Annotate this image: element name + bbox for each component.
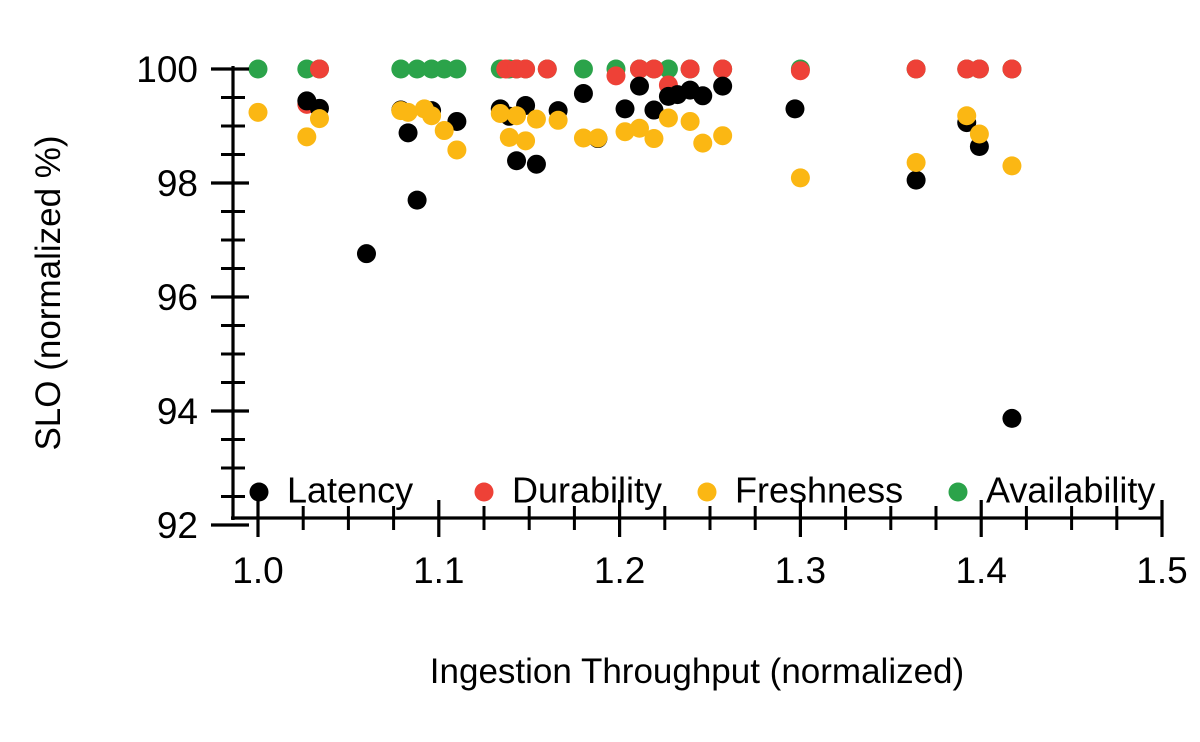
y-tick-label: 96 <box>157 277 198 318</box>
data-point <box>399 123 418 142</box>
data-point <box>516 131 535 150</box>
data-point <box>1002 60 1021 79</box>
x-tick-label: 1.5 <box>1136 550 1187 591</box>
data-point <box>907 60 926 79</box>
data-point <box>681 112 700 131</box>
legend-label-latency[interactable]: Latency <box>287 470 413 511</box>
data-point <box>574 60 593 79</box>
data-point <box>408 191 427 210</box>
legend-swatch-latency[interactable] <box>250 483 269 502</box>
y-tick-label: 92 <box>157 505 198 546</box>
data-point <box>435 121 454 140</box>
data-point <box>297 127 316 146</box>
data-point <box>659 109 678 128</box>
data-point <box>422 106 441 125</box>
y-axis-title: SLO (normalized %) <box>29 135 68 450</box>
data-point <box>491 104 510 123</box>
legend-swatch-freshness[interactable] <box>698 483 717 502</box>
y-tick-label: 100 <box>136 49 198 90</box>
x-tick-label: 1.3 <box>775 550 826 591</box>
data-point <box>644 60 663 79</box>
data-markers-layer <box>249 60 1022 428</box>
data-point <box>970 124 989 143</box>
data-point <box>630 77 649 96</box>
data-point <box>1002 156 1021 175</box>
series-latency <box>297 77 1021 428</box>
data-point <box>785 99 804 118</box>
data-point <box>357 244 376 263</box>
data-point <box>907 153 926 172</box>
data-point <box>249 60 268 79</box>
data-point <box>500 128 519 147</box>
y-tick-label: 98 <box>157 163 198 204</box>
data-point <box>310 109 329 128</box>
data-point <box>527 110 546 129</box>
data-point <box>447 140 466 159</box>
data-point <box>249 103 268 122</box>
x-tick-label: 1.4 <box>955 550 1006 591</box>
data-point <box>791 168 810 187</box>
legend-swatch-durability[interactable] <box>475 483 494 502</box>
data-point <box>713 77 732 96</box>
scatter-plot-figure: 929496981001.01.11.21.31.41.5 Ingestion … <box>0 0 1200 742</box>
data-point <box>574 84 593 103</box>
data-point <box>791 61 810 80</box>
axes-layer <box>211 66 1162 537</box>
x-tick-label: 1.0 <box>232 550 283 591</box>
data-point <box>1002 409 1021 428</box>
plot-canvas: 929496981001.01.11.21.31.41.5 Ingestion … <box>0 0 1200 742</box>
data-point <box>713 126 732 145</box>
data-point <box>606 66 625 85</box>
x-tick-label: 1.2 <box>594 550 645 591</box>
legend-swatch-availability[interactable] <box>949 483 968 502</box>
data-point <box>399 103 418 122</box>
data-point <box>644 129 663 148</box>
data-point <box>693 134 712 153</box>
x-axis-title: Ingestion Throughput (normalized) <box>430 652 964 691</box>
data-point <box>391 60 410 79</box>
data-point <box>310 60 329 79</box>
data-point <box>527 155 546 174</box>
x-tick-label: 1.1 <box>413 550 464 591</box>
data-point <box>616 99 635 118</box>
data-point <box>713 60 732 79</box>
data-point <box>970 60 989 79</box>
data-point <box>588 128 607 147</box>
legend-label-availability[interactable]: Availability <box>986 470 1155 511</box>
legend: LatencyDurabilityFreshnessAvailability <box>250 470 1156 511</box>
y-axis-ticks <box>211 69 249 525</box>
series-freshness <box>249 99 1022 187</box>
data-point <box>957 106 976 125</box>
y-tick-label: 94 <box>157 391 198 432</box>
data-point <box>447 60 466 79</box>
data-point <box>538 60 557 79</box>
data-point <box>907 171 926 190</box>
data-point <box>507 106 526 125</box>
data-point <box>507 151 526 170</box>
data-point <box>681 60 700 79</box>
legend-label-freshness[interactable]: Freshness <box>735 470 903 511</box>
legend-label-durability[interactable]: Durability <box>512 470 662 511</box>
data-point <box>549 111 568 130</box>
data-point <box>516 60 535 79</box>
data-point <box>693 86 712 105</box>
